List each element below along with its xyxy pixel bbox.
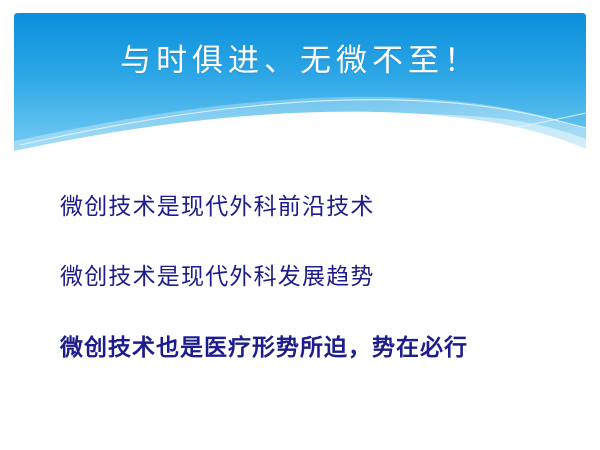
body-line-3: 微创技术也是医疗形势所迫，势在必行	[60, 336, 580, 406]
banner-wave-graphic	[14, 13, 586, 165]
slide-body: 微创技术是现代外科前沿技术 微创技术是现代外科发展趋势 微创技术也是医疗形势所迫…	[60, 196, 580, 406]
body-line-2: 微创技术是现代外科发展趋势	[60, 266, 580, 336]
body-line-1: 微创技术是现代外科前沿技术	[60, 196, 580, 266]
title-banner: 与时俱进、无微不至！	[14, 13, 586, 165]
presentation-slide: 与时俱进、无微不至！ 微创技术是现代外科前沿技术 微创技术是现代外科发展趋势 微…	[0, 0, 600, 450]
slide-title: 与时俱进、无微不至！	[14, 43, 586, 80]
